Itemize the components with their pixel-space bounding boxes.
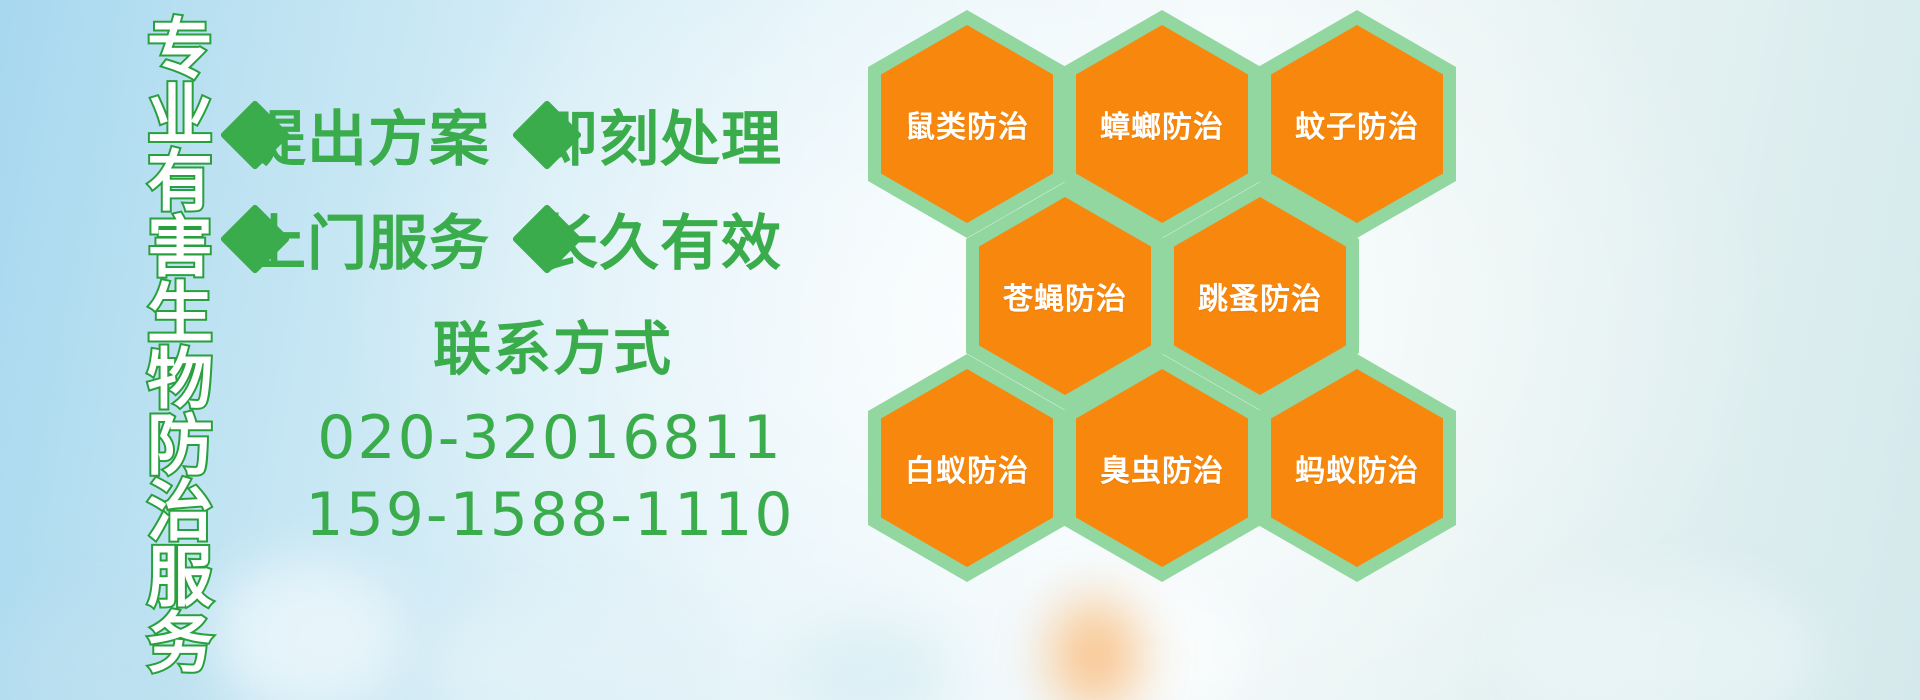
feature-list: 提出方案 即刻处理 上门服务 长久有效 (230, 82, 870, 290)
background-bokeh-blob (790, 620, 950, 700)
feature-item-immediate-handling: 即刻处理 (522, 91, 782, 178)
service-label: 臭虫防治 (1100, 446, 1224, 490)
feature-item-long-lasting-effect: 长久有效 (522, 195, 782, 282)
contact-phone-mobile[interactable]: 159-1588-1110 (230, 477, 870, 554)
contact-title: 联系方式 (236, 318, 870, 382)
vertical-headline: 专业有害生物防治服务 (112, 14, 208, 574)
service-label: 跳蚤防治 (1198, 274, 1322, 318)
hexagon-inner-fill: 苍蝇防治 (979, 197, 1151, 395)
service-label: 白蚁防治 (905, 446, 1029, 490)
service-hexagon-grid: 鼠类防治 蟑螂防治 蚊子防治 苍蝇防治 跳蚤防治 白蚁防治 (862, 0, 1462, 580)
hexagon-inner-fill: 蚊子防治 (1271, 25, 1443, 223)
feature-item-door-to-door-service: 上门服务 (230, 195, 490, 282)
hexagon-inner-fill: 臭虫防治 (1076, 369, 1248, 567)
service-label: 苍蝇防治 (1003, 274, 1127, 318)
feature-row: 上门服务 长久有效 (230, 186, 870, 290)
background-bokeh-blob (1050, 600, 1140, 700)
hexagon-inner-fill: 蚂蚁防治 (1271, 369, 1443, 567)
background-bokeh-blob (1500, 575, 1820, 700)
background-bokeh-blob (1040, 585, 1250, 700)
service-label: 蚊子防治 (1295, 102, 1419, 146)
feature-item-propose-plan: 提出方案 (230, 91, 490, 178)
contact-phone-landline[interactable]: 020-32016811 (230, 400, 870, 477)
contact-block: 联系方式 020-32016811 159-1588-1110 (230, 318, 870, 553)
service-label: 鼠类防治 (905, 102, 1029, 146)
pest-control-banner: 专业有害生物防治服务 提出方案 即刻处理 上门服务 长久有效 联系方式 (0, 0, 1920, 700)
background-bokeh-blob (210, 560, 400, 700)
hexagon-inner-fill: 鼠类防治 (881, 25, 1053, 223)
hexagon-inner-fill: 跳蚤防治 (1174, 197, 1346, 395)
service-label: 蚂蚁防治 (1295, 446, 1419, 490)
hexagon-inner-fill: 白蚁防治 (881, 369, 1053, 567)
service-label: 蟑螂防治 (1100, 102, 1224, 146)
background-bokeh-blob (430, 600, 690, 700)
hexagon-inner-fill: 蟑螂防治 (1076, 25, 1248, 223)
feature-row: 提出方案 即刻处理 (230, 82, 870, 186)
